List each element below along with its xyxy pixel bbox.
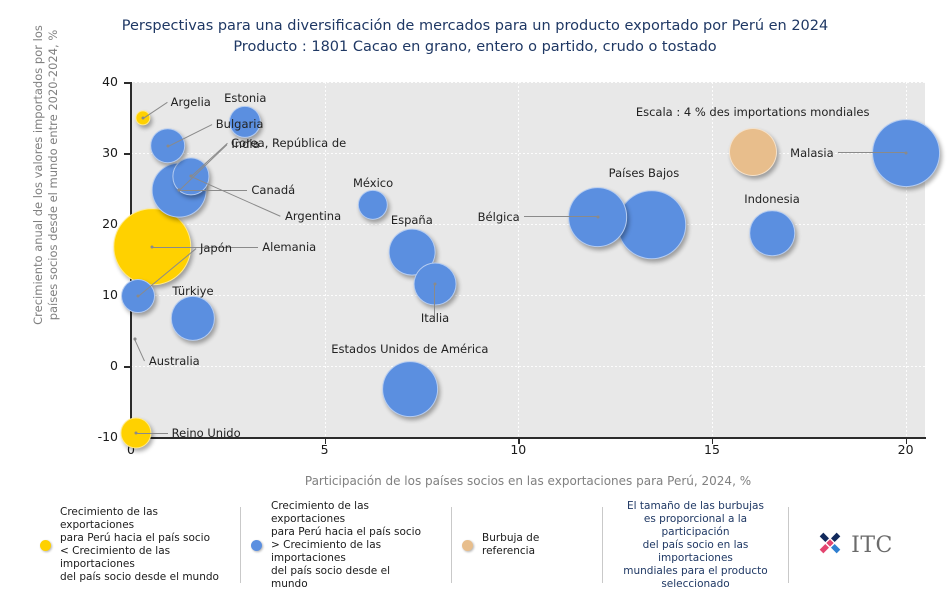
reference-bubble[interactable] — [729, 128, 777, 176]
legend-size-note-text: El tamaño de las burbujases proporcional… — [613, 500, 778, 591]
point-label-bulgaria: Bulgaria — [216, 117, 264, 131]
x-axis-title-text: Participación de los países socios en la… — [305, 474, 751, 488]
leader-anchor-dot — [434, 282, 437, 285]
y-axis-title-text: Crecimiento anual de los valores importa… — [31, 25, 60, 325]
yellow-dot-icon — [40, 540, 51, 551]
leader-line — [524, 216, 598, 217]
y-axis-tick-label: 0 — [92, 358, 118, 373]
title-line-2: Producto : 1801 Cacao en grano, entero o… — [0, 37, 950, 58]
x-axis-line — [130, 437, 926, 439]
leader-anchor-dot — [166, 144, 169, 147]
gridline-horizontal — [131, 224, 925, 225]
title-line-1: Perspectivas para una diversificación de… — [0, 16, 950, 37]
legend-item-2[interactable]: Crecimiento de las exportacionespara Per… — [241, 503, 451, 587]
leader-anchor-dot — [151, 245, 154, 248]
reference-bubble-label: Escala : 4 % des importations mondiales — [636, 105, 870, 119]
reference-dot-icon — [462, 540, 473, 551]
chart-page: Perspectivas para una diversificación de… — [0, 0, 950, 600]
point-label-italia: Italia — [421, 311, 449, 325]
point-label-espa-a: España — [391, 213, 433, 227]
x-axis-title: Participación de los países socios en la… — [131, 474, 925, 488]
bubble-indonesia[interactable] — [749, 210, 795, 256]
y-axis-tick-label: 20 — [92, 216, 118, 231]
legend-size-note: El tamaño de las burbujases proporcional… — [603, 503, 788, 587]
blue-dot-icon — [251, 540, 262, 551]
gridline-vertical — [518, 82, 519, 437]
itc-brand: ITC — [789, 503, 919, 587]
x-axis-tick-label: 5 — [305, 442, 345, 457]
point-label-argentina: Argentina — [285, 209, 341, 223]
point-label-india: India — [231, 137, 259, 151]
point-label-canad: Canadá — [251, 183, 295, 197]
bubble-pa-ses-bajos[interactable] — [617, 190, 687, 260]
page-title: Perspectivas para una diversificación de… — [0, 16, 950, 58]
x-axis-tick-label: 10 — [498, 442, 538, 457]
point-label-estonia: Estonia — [224, 91, 266, 105]
leader-anchor-dot — [134, 431, 137, 434]
gridline-horizontal — [131, 295, 925, 296]
gridline-horizontal — [131, 366, 925, 367]
y-axis-tick — [124, 82, 131, 84]
point-label-jap-n: Japón — [200, 241, 232, 255]
point-label-estados-unidos-de-am-rica: Estados Unidos de América — [331, 342, 488, 356]
leader-anchor-dot — [596, 215, 599, 218]
point-label-argelia: Argelia — [171, 95, 211, 109]
legend-item-text: Crecimiento de las exportacionespara Per… — [271, 500, 441, 591]
legend-item-1[interactable]: Crecimiento de las exportacionespara Per… — [30, 503, 240, 587]
x-axis-tick-label: 15 — [692, 442, 732, 457]
gridline-vertical — [712, 82, 713, 437]
leader-anchor-dot — [136, 295, 139, 298]
legend: Crecimiento de las exportacionespara Per… — [30, 503, 920, 587]
leader-anchor-dot — [178, 188, 181, 191]
point-label-pa-ses-bajos: Países Bajos — [609, 166, 680, 180]
itc-wordmark: ITC — [851, 533, 893, 558]
legend-item-3[interactable]: Burbuja de referencia — [452, 503, 602, 587]
leader-line — [136, 433, 168, 434]
point-label-indonesia: Indonesia — [744, 192, 800, 206]
bubble-estados-unidos-de-am-rica[interactable] — [382, 362, 438, 418]
point-label-m-xico: México — [353, 176, 393, 190]
point-label-t-rkiye: Türkiye — [172, 284, 213, 298]
legend-item-text: Burbuja de referencia — [482, 532, 592, 558]
leader-anchor-dot — [133, 338, 136, 341]
point-label-b-lgica: Bélgica — [478, 210, 520, 224]
y-axis-tick — [124, 366, 131, 368]
leader-line — [838, 152, 906, 153]
legend-item-text: Crecimiento de las exportacionespara Per… — [60, 506, 230, 584]
leader-anchor-dot — [190, 175, 193, 178]
leader-anchor-dot — [904, 152, 907, 155]
y-axis-tick-label: 10 — [92, 287, 118, 302]
y-axis-tick-label: 30 — [92, 145, 118, 160]
point-label-malasia: Malasia — [790, 146, 833, 160]
gridline-horizontal — [131, 82, 925, 83]
x-axis-tick-label: 20 — [886, 442, 926, 457]
itc-logo-icon — [815, 528, 845, 562]
leader-line — [179, 190, 247, 191]
y-axis-tick-label: 40 — [92, 74, 118, 89]
leader-anchor-dot — [141, 116, 144, 119]
point-label-alemania: Alemania — [262, 240, 316, 254]
y-axis-title: Crecimiento anual de los valores importa… — [31, 25, 61, 325]
point-label-australia: Australia — [149, 354, 200, 368]
gridline-vertical — [325, 82, 326, 437]
point-label-reino-unido: Reino Unido — [172, 426, 241, 440]
y-axis-tick — [124, 153, 131, 155]
